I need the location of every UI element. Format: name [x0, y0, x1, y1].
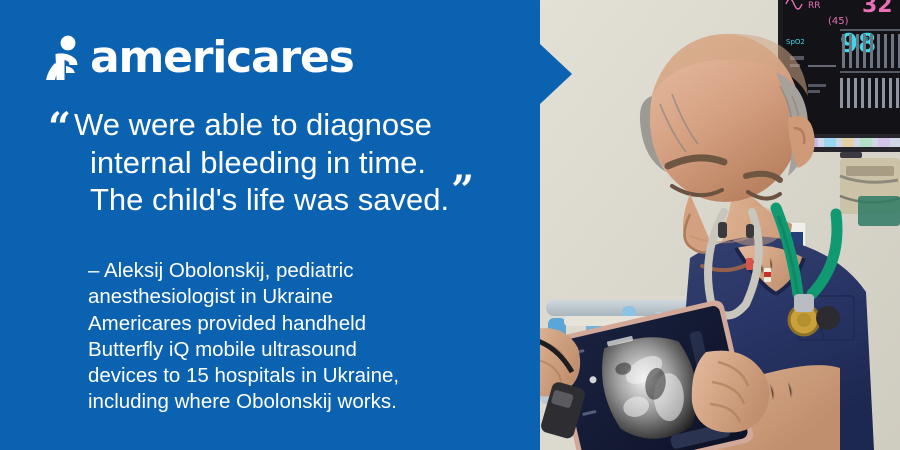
person-figure-icon — [46, 35, 86, 81]
photo-illustration: RR 32 (45) SpO2 98 % — [540, 0, 900, 450]
svg-text:32: 32 — [862, 0, 893, 18]
quote-line-1-text: We were able to diagnose — [74, 107, 432, 142]
attribution-line-5: devices to 15 hospitals in Ukraine, — [88, 363, 518, 389]
attribution-line-2: anesthesiologist in Ukraine — [88, 284, 518, 310]
attribution-line-4: Butterfly iQ mobile ultrasound — [88, 337, 518, 363]
pull-quote: “We were able to diagnose internal bleed… — [48, 106, 518, 219]
svg-text:(45): (45) — [828, 16, 849, 27]
quote-line-1: “We were able to diagnose — [48, 106, 518, 144]
attribution-line-6: including where Obolonskij works. — [88, 389, 518, 415]
close-quote-mark: ” — [451, 167, 472, 214]
photo-doctor-with-ultrasound-tablet: RR 32 (45) SpO2 98 % — [540, 0, 900, 450]
quote-line-3-text: The child's life was saved. — [90, 182, 449, 217]
americares-logo[interactable]: americares — [46, 32, 354, 84]
attribution-line-3: Americares provided handheld — [88, 311, 518, 337]
svg-text:RR: RR — [808, 1, 821, 11]
quote-line-2: internal bleeding in time. — [48, 144, 518, 182]
open-quote-mark: “ — [48, 104, 69, 151]
americares-quote-card: RR 32 (45) SpO2 98 % — [0, 0, 900, 450]
americares-wordmark: americares — [90, 36, 354, 80]
attribution-line-1: – Aleksij Obolonskij, pediatric — [88, 258, 518, 284]
svg-text:SpO2: SpO2 — [786, 38, 805, 46]
quote-line-3: The child's life was saved.” — [48, 181, 518, 219]
quote-attribution: – Aleksij Obolonskij, pediatric anesthes… — [88, 258, 518, 416]
